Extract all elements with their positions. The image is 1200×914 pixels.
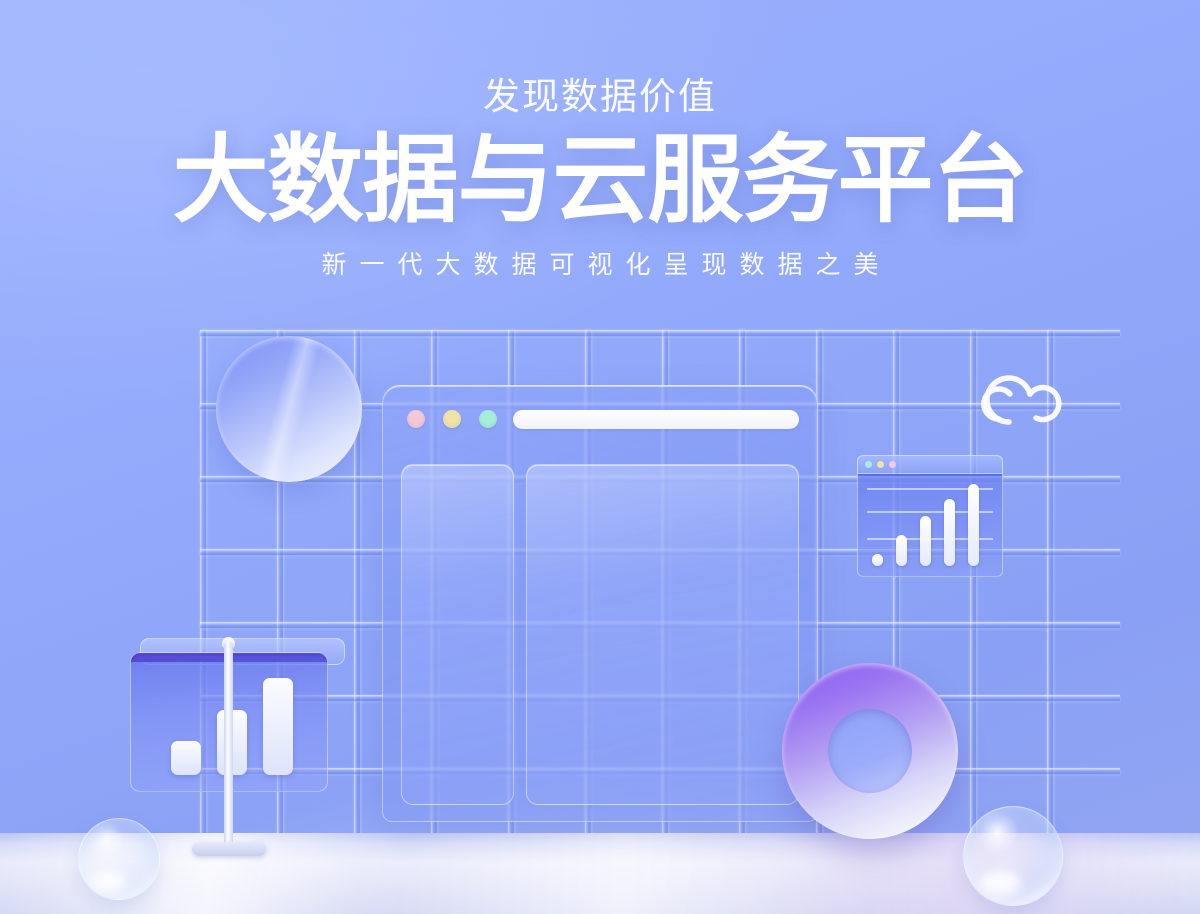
browser-mockup[interactable]: [382, 385, 818, 822]
content-panel[interactable]: [526, 464, 799, 805]
widget-chart-area: [857, 473, 1003, 577]
monitor-bar-chart: [130, 630, 345, 855]
donut-chart-shape: [782, 663, 958, 839]
address-bar-input[interactable]: [513, 410, 799, 429]
yellow-dot-icon[interactable]: [877, 461, 884, 468]
glass-sphere-left: [78, 818, 160, 900]
grid-line-horizontal: [200, 330, 1120, 337]
sidebar-panel[interactable]: [401, 464, 514, 805]
hero-text-block: 发现数据价值 大数据与云服务平台 新一代大数据可视化呈现数据之美: [0, 78, 1200, 281]
minimize-dot-icon[interactable]: [443, 410, 461, 428]
close-dot-icon[interactable]: [407, 410, 425, 428]
chart-bar: [896, 535, 907, 566]
widget-titlebar: [857, 455, 1003, 473]
browser-titlebar: [383, 386, 817, 448]
glass-disc-shape: [216, 336, 362, 482]
page-title: 大数据与云服务平台: [0, 132, 1200, 230]
monitor-base: [192, 842, 266, 856]
monitor-chart-bar: [263, 678, 293, 775]
mint-dot-icon[interactable]: [865, 461, 872, 468]
chart-bar: [872, 554, 883, 566]
poster-stage: 发现数据价值 大数据与云服务平台 新一代大数据可视化呈现数据之美: [0, 0, 1200, 914]
monitor-chart-bar: [171, 741, 201, 775]
cloud-icon: [975, 362, 1065, 434]
bar-chart-window[interactable]: [857, 455, 1003, 577]
maximize-dot-icon[interactable]: [479, 410, 497, 428]
chart-bar: [944, 499, 955, 566]
subtitle-text: 新一代大数据可视化呈现数据之美: [0, 245, 1200, 281]
chart-bar: [968, 484, 979, 566]
pink-dot-icon[interactable]: [889, 461, 896, 468]
glass-sphere-right: [963, 806, 1063, 906]
eyebrow-text: 发现数据价值: [0, 78, 1200, 115]
monitor-stand: [224, 642, 233, 849]
chart-bar: [920, 516, 931, 566]
